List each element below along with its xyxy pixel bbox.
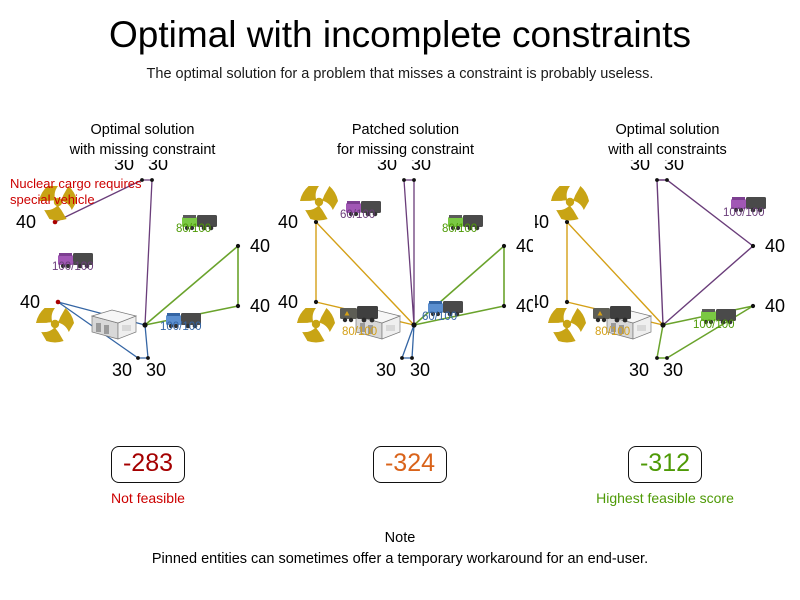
footer-note: Note Pinned entities can sometimes offer… bbox=[0, 528, 800, 570]
node-label-40-right-lower: 40 bbox=[250, 296, 270, 316]
node-label-40-right-upper: 40 bbox=[516, 236, 533, 256]
panel-2-diagram: 30 30 40 40 40 40 30 30 60/100 bbox=[278, 160, 533, 410]
score-panel-1: -283 Not feasible bbox=[58, 446, 238, 516]
route-purple bbox=[404, 180, 414, 325]
node-label-30-b: 30 bbox=[664, 160, 684, 174]
score-panel-2: -324 bbox=[320, 446, 500, 516]
panel-3-diagram: 30 30 40 40 40 40 30 30 100/100 bbox=[535, 160, 800, 410]
node-label-30-a: 30 bbox=[114, 160, 134, 174]
radioactive-icon bbox=[296, 303, 339, 343]
vehicle-capacity-purple: 60/100 bbox=[340, 209, 375, 221]
radioactive-icon bbox=[547, 303, 590, 343]
score-label-3: Highest feasible score bbox=[575, 490, 755, 507]
vehicle-capacity-blue: 60/100 bbox=[422, 311, 457, 323]
node-label-30-c: 30 bbox=[376, 360, 396, 380]
route-blue bbox=[402, 325, 414, 358]
panel-2-title: Patched solution for missing constraint bbox=[278, 120, 533, 160]
node-label-30-c: 30 bbox=[112, 360, 132, 380]
note-title: Note bbox=[385, 530, 416, 546]
radioactive-icon bbox=[35, 303, 78, 343]
node-label-30-c: 30 bbox=[629, 360, 649, 380]
node-label-30-b: 30 bbox=[411, 160, 431, 174]
node-label-30-b: 30 bbox=[148, 160, 168, 174]
node-label-30-d: 30 bbox=[146, 360, 166, 380]
node-label-40-nuclear-bottom: 40 bbox=[535, 292, 549, 312]
radioactive-icon bbox=[550, 181, 593, 221]
node-label-40-right-upper: 40 bbox=[765, 236, 785, 256]
panel-3-title: Optimal solution with all constraints bbox=[535, 120, 800, 160]
panel-optimal-all-constraints: Optimal solution with all constraints bbox=[535, 120, 800, 420]
score-panel-3: -312 Highest feasible score bbox=[575, 446, 755, 516]
note-text: Pinned entities can sometimes offer a te… bbox=[152, 551, 648, 567]
node-label-40-nuclear-bottom: 40 bbox=[20, 292, 40, 312]
node-label-30-a: 30 bbox=[377, 160, 397, 174]
node-label-40-nuclear-top: 40 bbox=[535, 212, 549, 232]
panel-optimal-missing-constraint: Optimal solution with missing constraint bbox=[10, 120, 275, 420]
vehicle-capacity-blue: 100/100 bbox=[160, 321, 202, 333]
vehicle-capacity-nuclear: 80/100 bbox=[342, 326, 377, 338]
page-title: Optimal with incomplete constraints bbox=[0, 14, 800, 56]
panel-patched-missing-constraint: Patched solution for missing constraint bbox=[278, 120, 533, 420]
node-label-40-nuclear-top: 40 bbox=[278, 212, 298, 232]
vehicle-capacity-green: 80/100 bbox=[176, 223, 211, 235]
vehicle-capacity-green: 80/100 bbox=[442, 223, 477, 235]
score-value-2: -324 bbox=[373, 446, 447, 483]
node-label-30-d: 30 bbox=[663, 360, 683, 380]
node-label-30-d: 30 bbox=[410, 360, 430, 380]
vehicle-capacity-purple: 100/100 bbox=[723, 207, 765, 219]
panel-1-title: Optimal solution with missing constraint bbox=[10, 120, 275, 160]
node-label-40-nuclear-bottom: 40 bbox=[278, 292, 298, 312]
nuclear-cargo-warning: Nuclear cargo requires special vehicle bbox=[10, 176, 190, 208]
score-label-1: Not feasible bbox=[58, 490, 238, 507]
node-label-40-right-lower: 40 bbox=[765, 296, 785, 316]
node-label-30-a: 30 bbox=[630, 160, 650, 174]
node-label-40-right-upper: 40 bbox=[250, 236, 270, 256]
depot-icon bbox=[92, 310, 136, 339]
score-value-1: -283 bbox=[111, 446, 185, 483]
vehicle-capacity-purple: 100/100 bbox=[52, 261, 94, 273]
page-subtitle: The optimal solution for a problem that … bbox=[0, 66, 800, 82]
radioactive-icon bbox=[299, 181, 342, 221]
vehicle-capacity-green: 100/100 bbox=[693, 319, 735, 331]
score-value-3: -312 bbox=[628, 446, 702, 483]
vehicle-capacity-nuclear: 80/100 bbox=[595, 326, 630, 338]
node-label-40-right-lower: 40 bbox=[516, 296, 533, 316]
slide-canvas: Optimal with incomplete constraints The … bbox=[0, 0, 800, 600]
node-label-40-nuclear-top: 40 bbox=[16, 212, 36, 232]
